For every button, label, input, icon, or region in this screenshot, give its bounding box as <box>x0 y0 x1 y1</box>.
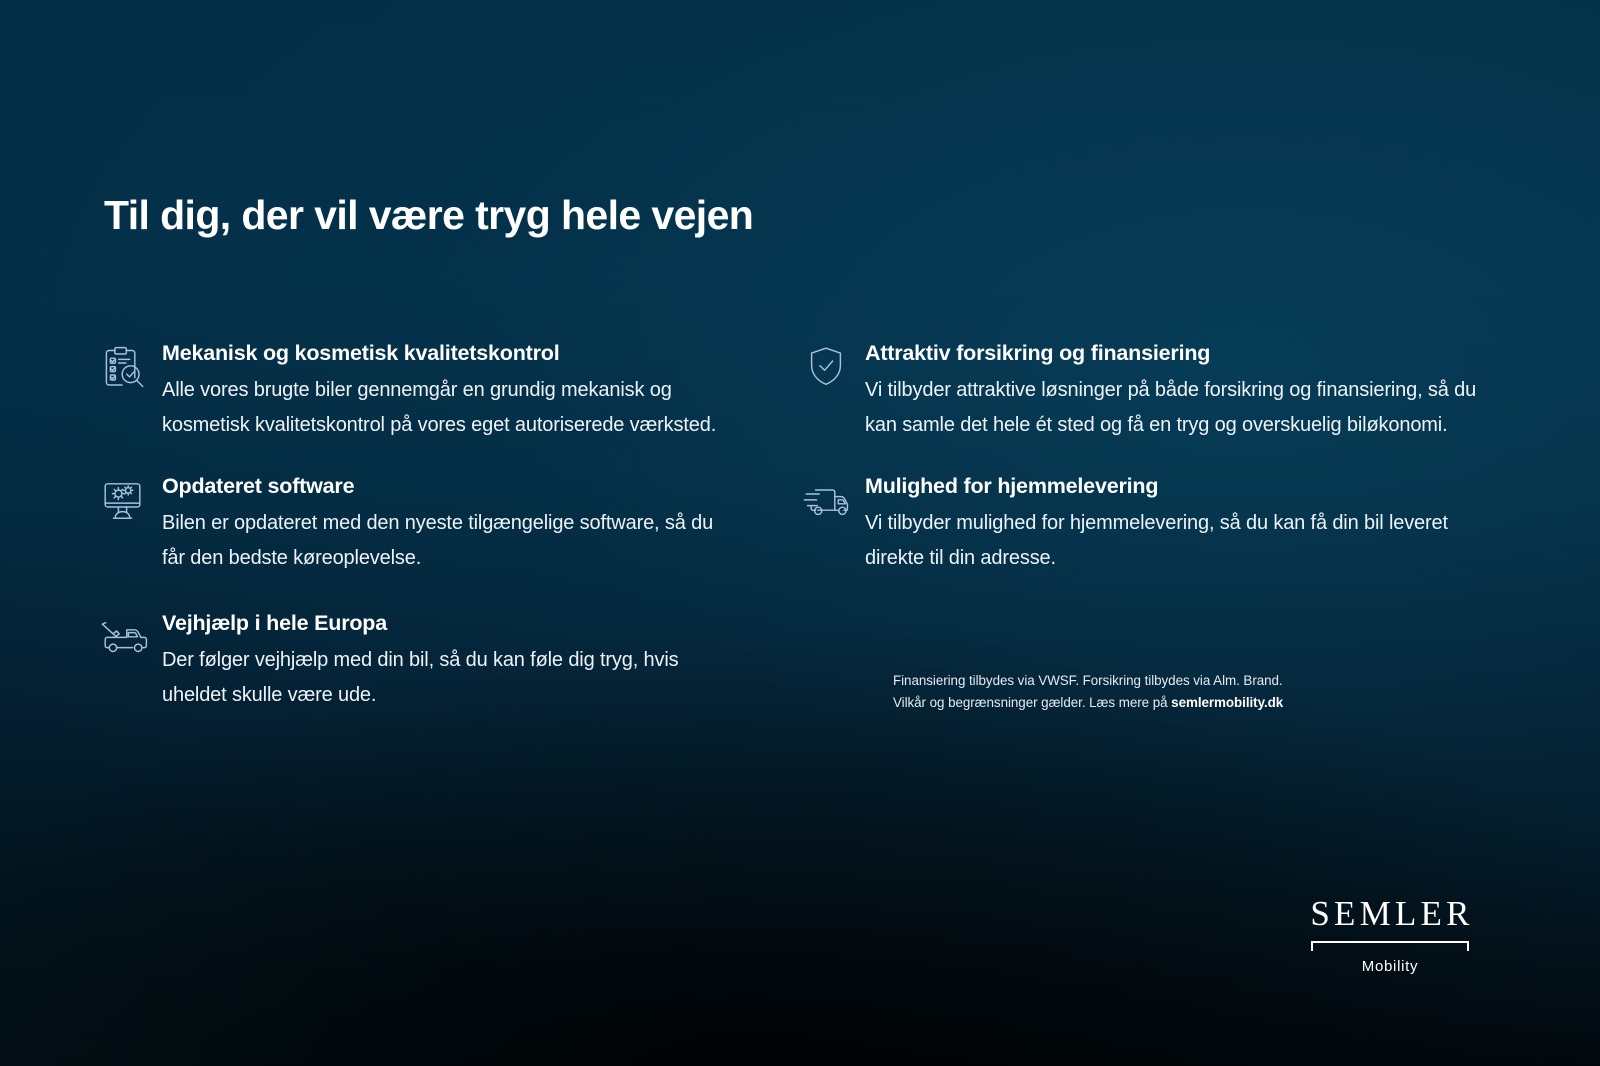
feature-title: Mekanisk og kosmetisk kvalitetskontrol <box>162 341 740 366</box>
feature-item-home-delivery: Mulighed for hjemmelevering Vi tilbyder … <box>803 473 1503 575</box>
feature-title: Opdateret software <box>162 474 740 499</box>
feature-description: Vi tilbyder mulighed for hjemmelevering,… <box>865 506 1503 575</box>
disclaimer-line-1: Finansiering tilbydes via VWSF. Forsikri… <box>893 673 1283 688</box>
feature-item-roadside-assistance: Vejhjælp i hele Europa Der følger vejhjæ… <box>100 610 740 712</box>
feature-description: Vi tilbyder attraktive løsninger på både… <box>865 373 1503 442</box>
shield-check-icon <box>803 340 865 390</box>
feature-text: Vejhjælp i hele Europa Der følger vejhjæ… <box>162 610 740 712</box>
semler-mobility-logo: SEMLER Mobility <box>1300 896 1480 975</box>
logo-wordmark: SEMLER <box>1300 896 1480 931</box>
clipboard-check-magnifier-icon <box>100 340 162 390</box>
feature-column-left: Mekanisk og kosmetisk kvalitetskontrol A… <box>100 340 740 748</box>
page-title: Til dig, der vil være tryg hele vejen <box>104 192 753 239</box>
feature-column-right: Attraktiv forsikring og finansiering Vi … <box>803 340 1503 611</box>
feature-item-quality-control: Mekanisk og kosmetisk kvalitetskontrol A… <box>100 340 740 442</box>
feature-title: Mulighed for hjemmelevering <box>865 474 1503 499</box>
poster-canvas: Til dig, der vil være tryg hele vejen <box>0 0 1600 1066</box>
feature-title: Vejhjælp i hele Europa <box>162 611 740 636</box>
tow-truck-icon <box>100 610 162 660</box>
feature-item-software: Opdateret software Bilen er opdateret me… <box>100 473 740 575</box>
feature-title: Attraktiv forsikring og finansiering <box>865 341 1503 366</box>
monitor-gears-icon <box>100 473 162 523</box>
disclaimer-line-2-prefix: Vilkår og begrænsninger gælder. Læs mere… <box>893 695 1171 710</box>
feature-text: Mekanisk og kosmetisk kvalitetskontrol A… <box>162 340 740 442</box>
semlermobility-link[interactable]: semlermobility.dk <box>1171 695 1283 710</box>
legal-disclaimer: Finansiering tilbydes via VWSF. Forsikri… <box>893 670 1433 714</box>
feature-text: Attraktiv forsikring og finansiering Vi … <box>865 340 1503 442</box>
logo-rule-tick-left <box>1311 941 1313 951</box>
feature-text: Mulighed for hjemmelevering Vi tilbyder … <box>865 473 1503 575</box>
feature-text: Opdateret software Bilen er opdateret me… <box>162 473 740 575</box>
feature-description: Der følger vejhjælp med din bil, så du k… <box>162 643 740 712</box>
logo-divider-rule <box>1311 941 1469 952</box>
logo-subtitle: Mobility <box>1300 958 1480 975</box>
feature-description: Bilen er opdateret med den nyeste tilgæn… <box>162 506 740 575</box>
delivery-truck-icon <box>803 473 865 523</box>
feature-description: Alle vores brugte biler gennemgår en gru… <box>162 373 740 442</box>
feature-item-insurance-financing: Attraktiv forsikring og finansiering Vi … <box>803 340 1503 442</box>
logo-rule-tick-right <box>1467 941 1469 951</box>
